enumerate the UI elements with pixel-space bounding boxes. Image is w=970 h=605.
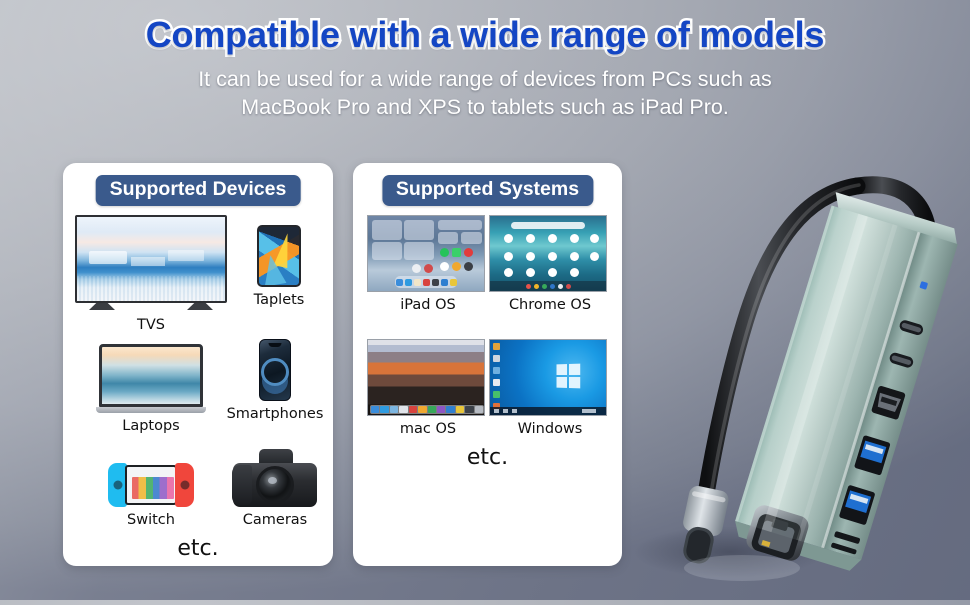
device-item-camera[interactable]: Cameras	[221, 449, 329, 528]
page-subtitle: It can be used for a wide range of devic…	[0, 65, 970, 122]
device-item-smartphone[interactable]: Smartphones	[223, 339, 327, 422]
device-label-tablet: Taplets	[231, 292, 327, 308]
tv-icon	[75, 215, 227, 312]
system-item-windows[interactable]: Windows	[489, 339, 611, 437]
system-label-windows: Windows	[489, 421, 611, 437]
device-item-tablet[interactable]: Taplets	[231, 225, 327, 308]
hub-body	[729, 192, 962, 581]
subtitle-line-2: MacBook Pro and XPS to tablets such as i…	[0, 93, 970, 121]
subtitle-line-1: It can be used for a wide range of devic…	[0, 65, 970, 93]
device-label-tv: TVS	[71, 317, 231, 333]
windows-taskbar	[490, 407, 606, 415]
device-label-switch: Switch	[81, 512, 221, 528]
mac-os-screenshot	[367, 339, 485, 416]
devices-etc-label: etc.	[63, 536, 333, 561]
system-item-ipados[interactable]: iPad OS	[367, 215, 489, 313]
supported-systems-card: Supported Systems	[353, 163, 622, 566]
device-label-smartphone: Smartphones	[223, 406, 327, 422]
tablet-icon	[257, 225, 301, 287]
product-reflection	[684, 555, 800, 581]
mac-dock	[370, 405, 484, 414]
system-label-ipados: iPad OS	[367, 297, 489, 313]
header: Compatible with a wide range of models I…	[0, 14, 970, 122]
game-console-icon	[108, 463, 194, 507]
device-label-laptop: Laptops	[81, 418, 221, 434]
system-label-macos: mac OS	[367, 421, 489, 437]
supported-devices-card: Supported Devices TVS Taplets Laptops Sm…	[63, 163, 333, 566]
supported-systems-badge: Supported Systems	[382, 175, 593, 206]
windows-logo-icon	[557, 364, 581, 389]
chrome-shelf	[490, 281, 606, 291]
camera-icon	[233, 449, 317, 507]
ipad-os-screenshot	[367, 215, 485, 292]
system-label-chromeos: Chrome OS	[489, 297, 611, 313]
windows-desktop-icons	[493, 343, 500, 410]
device-label-camera: Cameras	[221, 512, 329, 528]
device-item-tv[interactable]: TVS	[71, 215, 231, 333]
laptop-icon	[96, 344, 206, 413]
systems-etc-label: etc.	[353, 445, 622, 470]
system-item-chromeos[interactable]: Chrome OS	[489, 215, 611, 313]
chrome-os-screenshot	[489, 215, 607, 292]
device-item-laptop[interactable]: Laptops	[81, 344, 221, 434]
ipad-dock	[395, 276, 457, 288]
hub-illustration	[610, 90, 970, 600]
usb-c-hub-product-image	[610, 90, 970, 600]
supported-devices-badge: Supported Devices	[96, 175, 301, 206]
smartphone-icon	[259, 339, 291, 401]
device-item-switch[interactable]: Switch	[81, 463, 221, 528]
system-item-macos[interactable]: mac OS	[367, 339, 489, 437]
windows-os-screenshot	[489, 339, 607, 416]
page-title: Compatible with a wide range of models	[0, 14, 970, 56]
